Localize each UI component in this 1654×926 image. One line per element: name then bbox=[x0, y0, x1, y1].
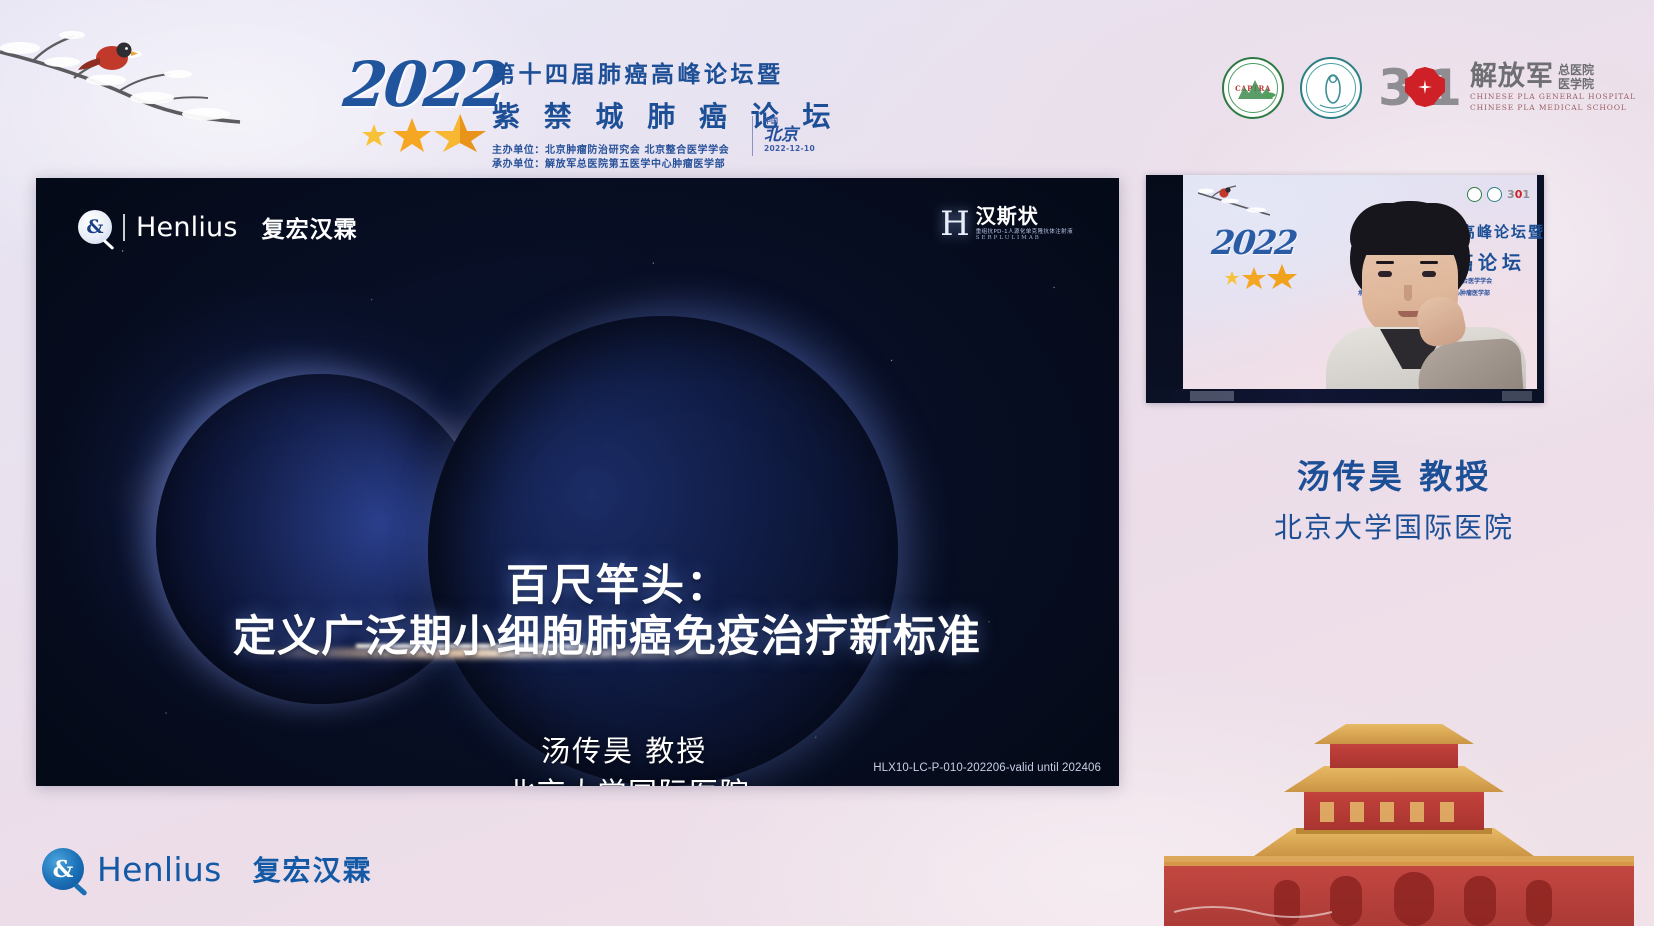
pla-name-en-line1: CHINESE PLA GENERAL HOSPITAL bbox=[1470, 91, 1636, 102]
slide-footnote-code: HLX10-LC-P-010-202206-valid until 202406 bbox=[873, 762, 1101, 774]
slide-brand-cn: 复宏汉霖 bbox=[262, 210, 358, 244]
product-name-en: SERPLULIMAB bbox=[976, 235, 1073, 241]
slide-speaker-affiliation: 北京大学国际医院 bbox=[506, 770, 750, 786]
henlius-glyph: & bbox=[78, 210, 112, 244]
broadcast-window: 2022 第十四届肺癌高峰论坛暨 紫 禁 城 肺 癌 论 坛 主办单位：北京肿瘤… bbox=[0, 0, 1654, 926]
banner-place-mark: 中国 北京 2022-12-10 bbox=[752, 116, 844, 156]
henlius-footer-glyph: & bbox=[42, 848, 84, 890]
brand-divider bbox=[123, 214, 125, 241]
pla-hospital-logo: 3 1 解放军 总医院 医学院 bbox=[1378, 62, 1636, 114]
webcam-integrative-seal-icon bbox=[1487, 187, 1502, 202]
webcam-logo-strip: 301 bbox=[1467, 187, 1530, 202]
slide-brand-lockup: & Henlius 复宏汉霖 bbox=[78, 210, 358, 244]
henlius-footer-logo-icon: & bbox=[42, 848, 84, 890]
place-date-label: 2022-12-10 bbox=[764, 144, 844, 153]
footer-brand-lockup: & Henlius 复宏汉霖 bbox=[42, 848, 373, 890]
winter-branch-icon bbox=[0, 18, 300, 138]
banner-logo-strip: CAPTRA 3 1 bbox=[1222, 48, 1636, 128]
serplulimab-h-icon: H bbox=[940, 207, 970, 241]
place-city-label: 北京 bbox=[764, 126, 844, 144]
301-emblem-icon: 3 1 bbox=[1378, 62, 1464, 114]
webcam-year-logo: 2022 bbox=[1210, 223, 1298, 262]
banner-organizer-line2: 承办单位：解放军总医院第五医学中心肿瘤医学部 bbox=[492, 158, 842, 172]
webcam-captra-seal-icon bbox=[1467, 187, 1482, 202]
speaker-webcam-feed[interactable]: 2022 第十四届肺癌高峰论坛暨 紫禁城肺癌论坛 主办单位：北京肿瘤防治研究会 … bbox=[1146, 175, 1544, 403]
footer-brand-cn: 复宏汉霖 bbox=[253, 849, 373, 889]
slide-brand-en: Henlius bbox=[136, 212, 238, 243]
pla-name-cn: 解放军 bbox=[1470, 63, 1554, 91]
pla-name-en-line2: CHINESE PLA MEDICAL SCHOOL bbox=[1470, 102, 1636, 113]
webcam-letterbox-right bbox=[1537, 175, 1544, 403]
webcam-letterbox-left bbox=[1146, 175, 1183, 403]
webcam-strip-thumb-left bbox=[1190, 391, 1234, 401]
henlius-logo-icon: & bbox=[78, 210, 112, 244]
speaker-panel: 2022 第十四届肺癌高峰论坛暨 紫禁城肺癌论坛 主办单位：北京肿瘤防治研究会 … bbox=[1134, 168, 1654, 926]
stars-decoration-icon bbox=[360, 112, 490, 152]
year-logo: 2022 bbox=[340, 48, 508, 121]
footer-brand-en: Henlius bbox=[97, 850, 222, 889]
slide-title-line2: 定义广泛期小细胞肺癌免疫治疗新标准 bbox=[233, 602, 981, 664]
event-banner: 2022 第十四届肺癌高峰论坛暨 紫 禁 城 肺 癌 论 坛 主办单位：北京肿瘤… bbox=[0, 0, 1654, 168]
webcam-branch-icon bbox=[1194, 183, 1289, 225]
captra-seal-icon: CAPTRA bbox=[1222, 57, 1284, 119]
forbidden-city-illustration bbox=[1134, 666, 1654, 926]
panel-speaker-affiliation: 北京大学国际医院 bbox=[1134, 506, 1654, 546]
presentation-slide[interactable]: & Henlius 复宏汉霖 H 汉斯状 重组抗PD-1人源化单克隆抗体注射液 … bbox=[36, 178, 1119, 786]
panel-speaker-name: 汤传昊 教授 bbox=[1134, 450, 1654, 498]
product-name-cn: 汉斯状 bbox=[976, 206, 1073, 227]
pla-name-cn-sub-a: 总医院 bbox=[1558, 63, 1594, 77]
product-name-cn-sub: 重组抗PD-1人源化单克隆抗体注射液 bbox=[976, 227, 1073, 235]
webcam-strip-thumb-right bbox=[1502, 391, 1532, 401]
slide-product-lockup: H 汉斯状 重组抗PD-1人源化单克隆抗体注射液 SERPLULIMAB bbox=[940, 206, 1073, 241]
banner-title-line1: 第十四届肺癌高峰论坛暨 bbox=[492, 55, 842, 89]
slide-speaker-name: 汤传昊 教授 bbox=[541, 728, 707, 770]
pla-name-cn-sub-b: 医学院 bbox=[1558, 77, 1594, 91]
footer-bar: & Henlius 复宏汉霖 bbox=[0, 826, 1134, 926]
integrative-medicine-seal-icon bbox=[1300, 57, 1362, 119]
webcam-stars-icon bbox=[1224, 263, 1299, 289]
webcam-301-badge: 301 bbox=[1507, 188, 1530, 201]
speaker-video-figure bbox=[1322, 201, 1530, 403]
